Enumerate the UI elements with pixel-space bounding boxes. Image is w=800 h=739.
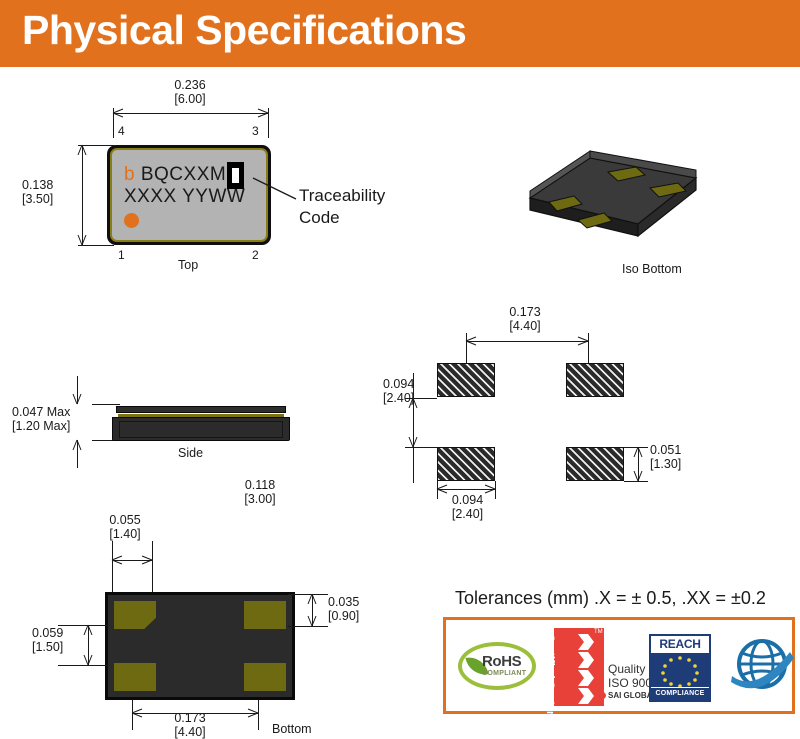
reach-logo: REACH COMPLIANCE [649, 634, 711, 702]
pin-number-4: 4 [118, 124, 125, 138]
land-pad-bottom-left [437, 447, 495, 481]
side-extra-inch: 0.118 [245, 478, 275, 492]
marking-line-2: XXXX YYWW [124, 186, 245, 208]
bottom-pad-width-inch: 0.055 [109, 513, 140, 527]
rohs-sublabel: COMPLIANT [482, 670, 526, 677]
top-view-label: Top [178, 258, 198, 272]
page-header-banner: Physical Specifications [0, 0, 800, 67]
ext-line [58, 625, 108, 626]
ext-line [405, 447, 437, 448]
ext-line [78, 145, 114, 146]
land-vertical-inch: 0.094 [383, 377, 414, 391]
land-pad-width-mm: [2.40] [452, 507, 483, 521]
land-pad-top-right [566, 363, 624, 397]
land-pad-height-mm: [1.30] [650, 457, 681, 471]
bottom-pitch-dimension: 0.173 [4.40] [150, 711, 230, 739]
side-view-body [112, 417, 290, 441]
land-pad-height-dimension: 0.051 [1.30] [650, 443, 710, 471]
tolerances-text: Tolerances (mm) .X = ± 0.5, .XX = ±0.2 [455, 588, 766, 609]
ext-line [92, 404, 120, 405]
bottom-pad-3 [244, 663, 286, 691]
rohs-label: RoHS [482, 653, 521, 670]
ext-line [132, 700, 133, 730]
certifications-panel: RoHS COMPLIANT TM Certified System Quali… [443, 617, 795, 714]
pin-one-indicator-dot [124, 213, 139, 228]
bottom-pad-spacing-dimension: 0.059 [1.50] [32, 626, 92, 654]
top-width-inch: 0.236 [174, 78, 205, 92]
bottom-pad-height-mm: [0.90] [328, 609, 359, 623]
marking-part-number: BQCXXM [141, 164, 226, 185]
side-view-package [112, 406, 290, 442]
pin-number-1: 1 [118, 248, 125, 262]
ext-line [495, 481, 496, 499]
iso-view-label: Iso Bottom [622, 262, 682, 276]
top-view-lid: b BQCXXM XXXX YYWW [110, 148, 268, 242]
side-view-lid [116, 406, 286, 413]
marking-line-1: b BQCXXM [124, 164, 226, 186]
ext-line [258, 700, 259, 730]
bottom-pad-spacing-mm: [1.50] [32, 640, 63, 654]
side-extra-mm: [3.00] [244, 492, 275, 506]
ext-line [405, 398, 437, 399]
ext-line [78, 245, 114, 246]
land-pitch-mm: [4.40] [509, 319, 540, 333]
land-pitch-dimension: 0.173 [4.40] [480, 305, 570, 333]
dim-line-bottom-pad-width [112, 560, 152, 561]
globe-icon [728, 632, 796, 700]
dim-line-land-pad-height [638, 447, 639, 481]
dim-line-bottom-pad-height [312, 594, 313, 626]
reach-label: REACH [651, 636, 709, 653]
sai-global-logo: TM Certified System Quality ISO 9001 SAI… [554, 628, 664, 706]
dim-line-side-upper [77, 376, 78, 404]
ext-line [588, 333, 589, 365]
side-view-label: Side [178, 446, 203, 460]
pin-number-2: 2 [252, 248, 259, 262]
iso-package-graphic [500, 140, 720, 260]
bottom-pad-2 [114, 663, 156, 691]
ext-line [466, 333, 467, 365]
bottom-view-label: Bottom [272, 722, 312, 736]
top-width-mm: [6.00] [174, 92, 205, 106]
side-height-mm: [1.20 Max] [12, 419, 70, 433]
bottom-pad-width-dimension: 0.055 [1.40] [85, 513, 165, 541]
iso-bottom-view [500, 140, 720, 260]
dim-line-land-pitch [466, 341, 588, 342]
ext-line [268, 108, 269, 138]
land-pad-width-inch: 0.094 [452, 493, 483, 507]
eu-stars-icon [651, 653, 709, 687]
ext-line [288, 626, 328, 627]
dim-line-top-height [82, 145, 83, 245]
brand-logo-b: b [124, 164, 135, 185]
dim-line-land-vertical [413, 373, 414, 483]
bottom-pitch-mm: [4.40] [174, 725, 205, 739]
land-pad-top-left [437, 363, 495, 397]
land-pad-bottom-right [566, 447, 624, 481]
bottom-pad-height-dimension: 0.035 [0.90] [328, 595, 398, 623]
bottom-pad-1 [114, 601, 156, 629]
ext-line [624, 481, 648, 482]
ext-line [624, 447, 648, 448]
ext-line [112, 541, 113, 593]
top-height-inch: 0.138 [22, 178, 53, 192]
land-pad-height-inch: 0.051 [650, 443, 681, 457]
bottom-pad-width-mm: [1.40] [109, 527, 140, 541]
traceability-callout: Traceability Code [299, 185, 385, 229]
top-view-width-dimension: 0.236 [6.00] [140, 78, 240, 106]
land-pitch-inch: 0.173 [509, 305, 540, 319]
reach-eu-stars [651, 653, 709, 687]
reach-sublabel: COMPLIANCE [651, 688, 709, 700]
side-view-height-dimension: 0.047 Max [1.20 Max] [12, 405, 112, 433]
ext-line [152, 541, 153, 593]
bottom-pad-4 [244, 601, 286, 629]
dim-line-side-lower [77, 440, 78, 468]
sai-red-panel: TM Certified System [554, 628, 604, 706]
ext-line [58, 665, 108, 666]
traceability-callout-line1: Traceability [299, 186, 385, 205]
ext-line [288, 594, 328, 595]
dim-line-land-pad-width [437, 489, 495, 490]
pin-number-3: 3 [252, 124, 259, 138]
ext-line [437, 481, 438, 499]
top-height-mm: [3.50] [22, 192, 53, 206]
globe-logo [728, 632, 796, 700]
dim-line-bottom-pitch [132, 713, 258, 714]
bottom-pad-spacing-inch: 0.059 [32, 626, 63, 640]
rohs-logo: RoHS COMPLIANT [458, 642, 542, 692]
page-title: Physical Specifications [22, 7, 466, 54]
bottom-view-package [105, 592, 295, 700]
top-view-package: b BQCXXM XXXX YYWW [107, 145, 271, 245]
traceability-code-mark [227, 162, 244, 189]
sai-chevrons-icon [554, 628, 604, 706]
side-view-extra-dimension: 0.118 [3.00] [225, 478, 295, 506]
bottom-pad-height-inch: 0.035 [328, 595, 359, 609]
traceability-callout-line2: Code [299, 208, 340, 227]
side-height-inch: 0.047 Max [12, 405, 70, 419]
dim-line-top-width [113, 113, 268, 114]
dim-line-bottom-spacing [88, 625, 89, 665]
sai-quality-label: Quality [608, 662, 645, 676]
